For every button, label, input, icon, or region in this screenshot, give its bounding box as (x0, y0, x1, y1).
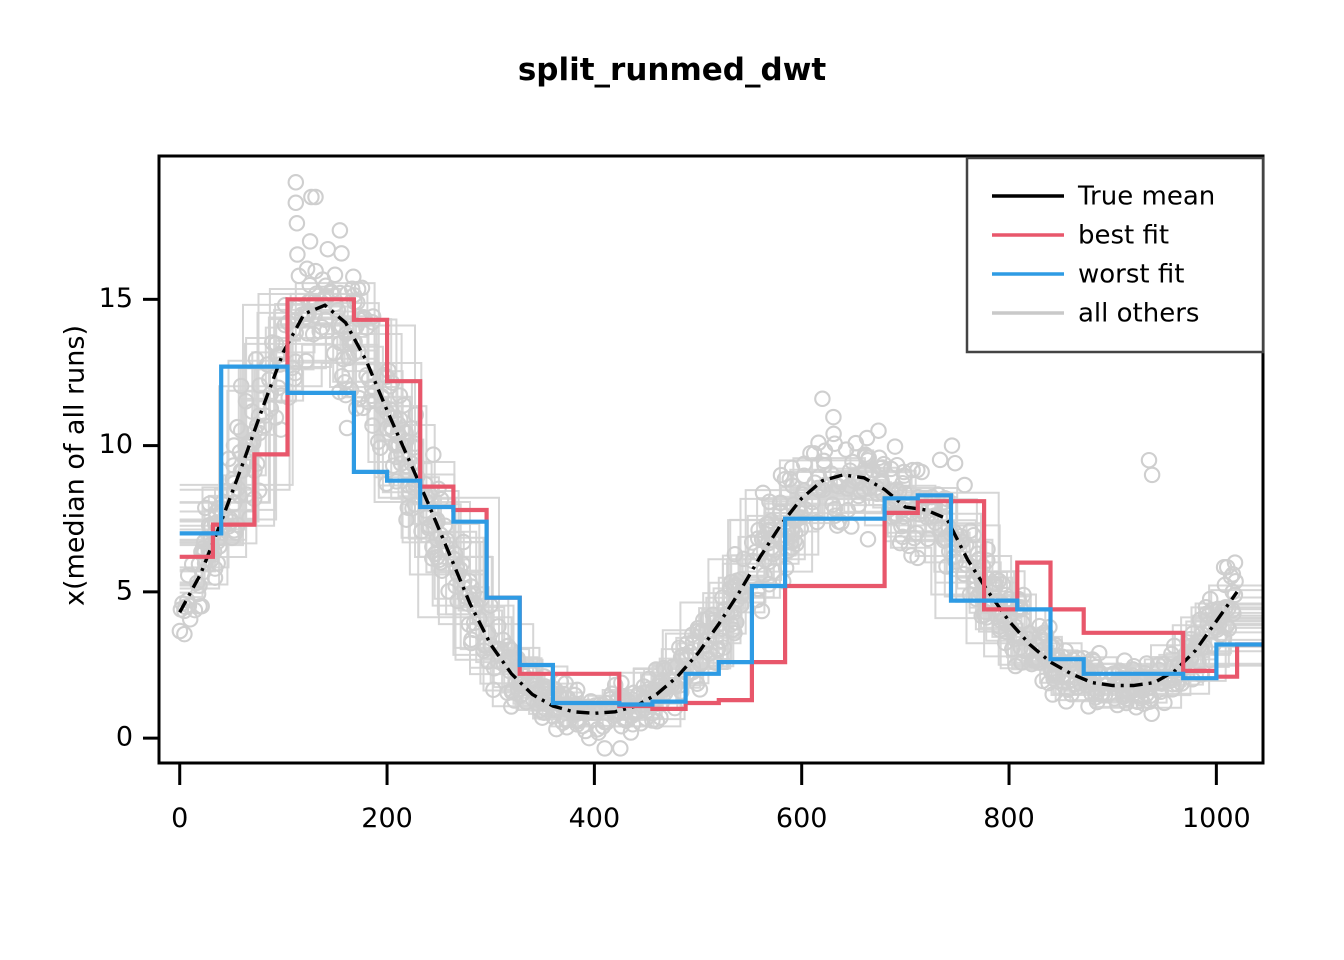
x-tick-label: 600 (776, 803, 828, 834)
x-tick-label: 1000 (1182, 803, 1251, 834)
legend: True meanbest fitworst fitall others (967, 158, 1263, 352)
legend-label: best fit (1078, 221, 1169, 251)
legend-label: all others (1078, 299, 1199, 329)
y-tick-label: 0 (116, 722, 133, 753)
x-tick-label: 0 (171, 803, 188, 834)
plot-canvas: 05101502004006008001000 True meanbest fi… (0, 0, 1344, 960)
legend-label: worst fit (1078, 260, 1184, 290)
chart-figure: split_runmed_dwt x(median of all runs) 0… (0, 0, 1344, 960)
x-tick-label: 200 (361, 803, 413, 834)
y-tick-label: 5 (116, 575, 133, 606)
y-tick-label: 10 (99, 429, 133, 460)
legend-label: True mean (1077, 182, 1215, 212)
x-tick-label: 800 (983, 803, 1035, 834)
x-tick-label: 400 (569, 803, 621, 834)
y-tick-label: 15 (99, 283, 133, 314)
